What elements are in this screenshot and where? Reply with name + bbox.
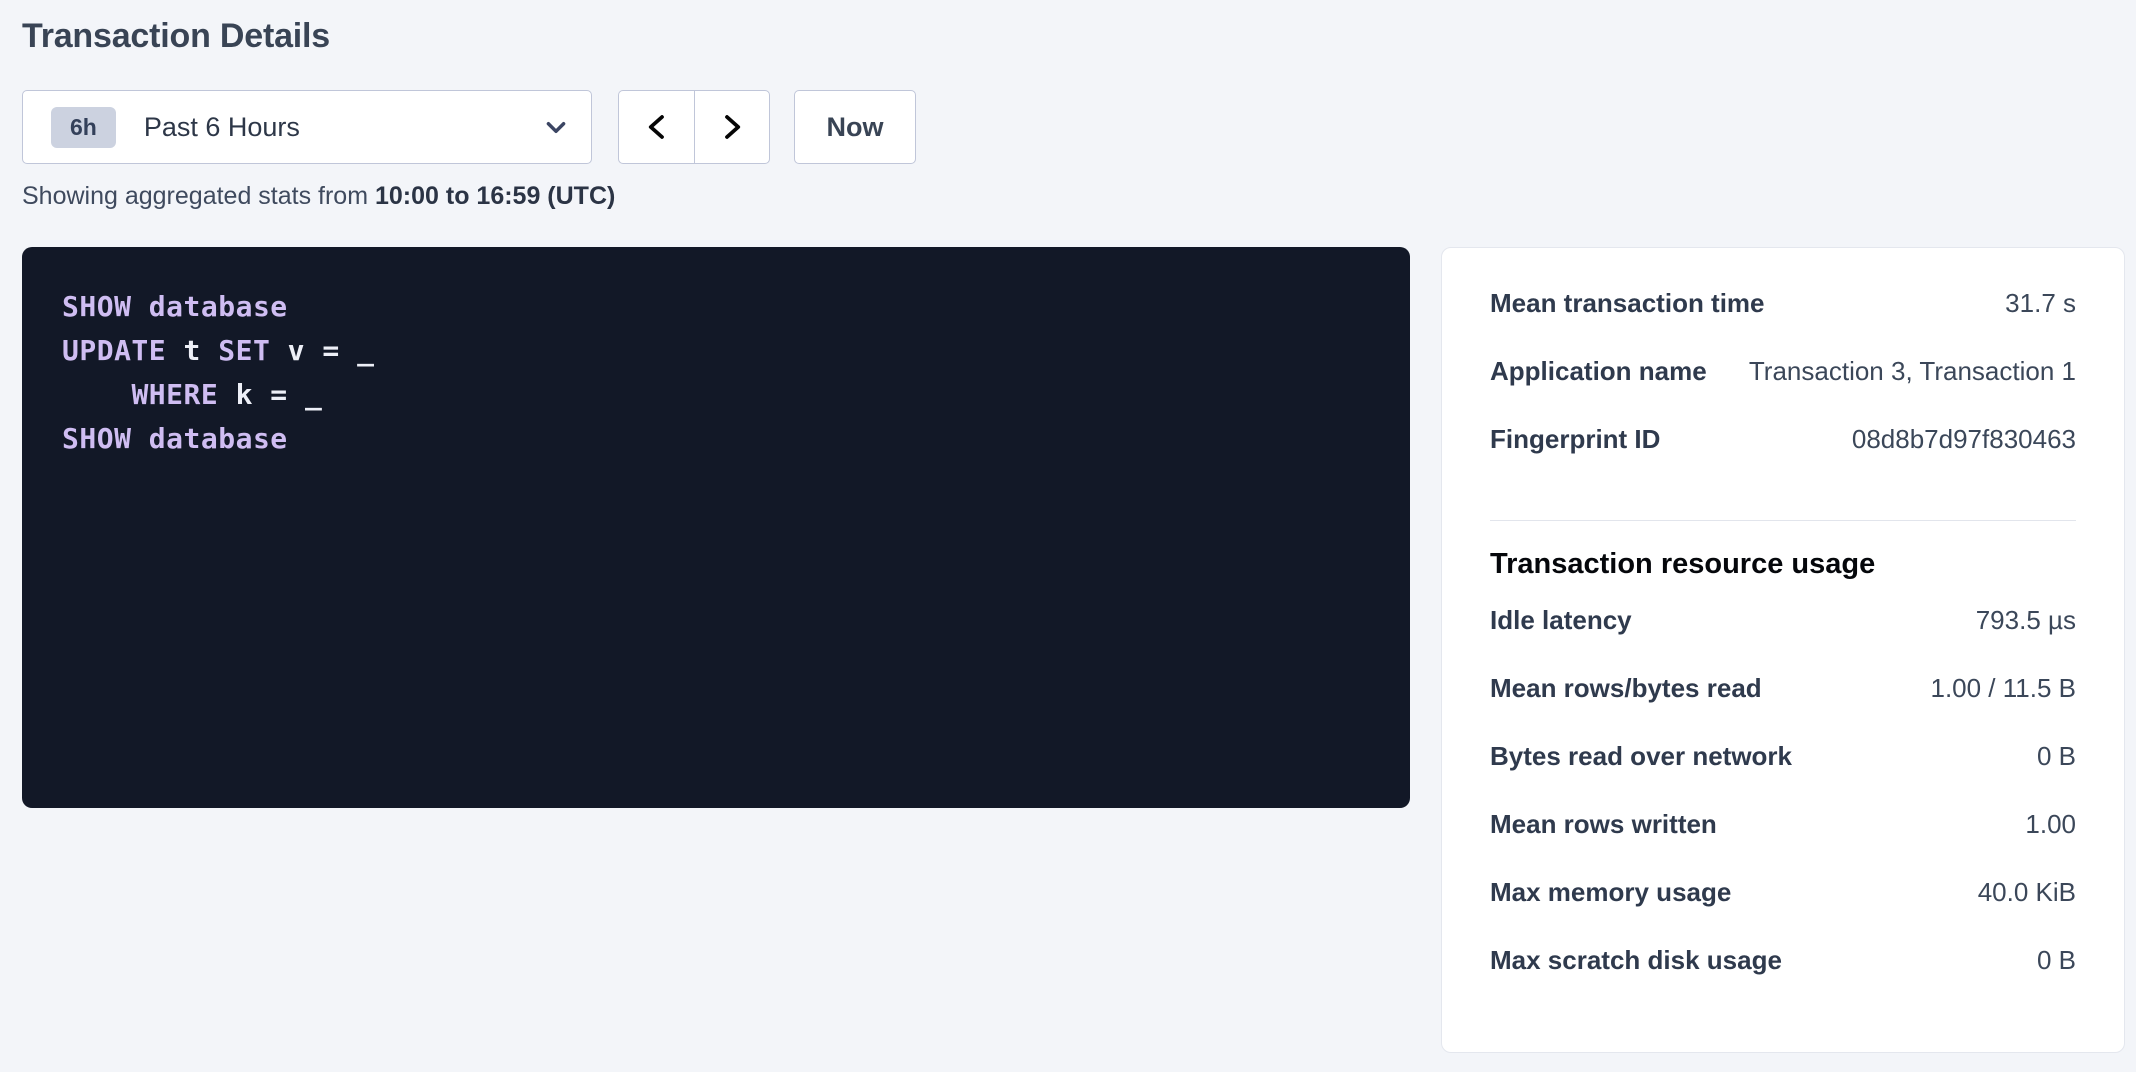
now-button[interactable]: Now <box>794 90 916 164</box>
sql-code-block[interactable]: SHOW database UPDATE t SET v = _ WHERE k… <box>22 247 1410 808</box>
stat-row: Mean transaction time31.7 s <box>1490 288 2076 356</box>
summary-stats-list: Mean transaction time31.7 sApplication n… <box>1490 288 2076 492</box>
stat-value: 0 B <box>2037 741 2076 772</box>
stat-label: Application name <box>1490 356 1707 387</box>
stat-value: 08d8b7d97f830463 <box>1852 424 2076 455</box>
time-range-toolbar: 6h Past 6 Hours <box>22 90 916 164</box>
range-note-value: 10:00 to 16:59 (UTC) <box>375 182 615 210</box>
code-token <box>62 378 131 411</box>
previous-range-button[interactable] <box>618 90 694 164</box>
code-token <box>218 378 235 411</box>
next-range-button[interactable] <box>694 90 770 164</box>
code-token: = _ <box>305 334 374 367</box>
code-token: database <box>149 290 288 323</box>
stat-row: Idle latency793.5 µs <box>1490 605 2076 673</box>
transaction-details-page: Transaction Details 6h Past 6 Hours <box>0 0 2136 1072</box>
stat-row: Max memory usage40.0 KiB <box>1490 877 2076 945</box>
range-note-prefix: Showing aggregated stats from <box>22 182 375 210</box>
code-token <box>166 334 183 367</box>
code-token: SHOW <box>62 422 131 455</box>
code-token <box>270 334 287 367</box>
stat-label: Mean transaction time <box>1490 288 1765 319</box>
stat-label: Max scratch disk usage <box>1490 945 1782 976</box>
time-range-badge: 6h <box>51 107 116 148</box>
code-token: k <box>236 378 253 411</box>
stat-value: Transaction 3, Transaction 1 <box>1749 356 2076 387</box>
code-token: v <box>288 334 305 367</box>
stat-label: Fingerprint ID <box>1490 424 1660 455</box>
code-token: SET <box>218 334 270 367</box>
stat-value: 1.00 <box>2025 809 2076 840</box>
code-token <box>131 290 148 323</box>
chevron-right-icon <box>717 112 747 142</box>
stat-label: Bytes read over network <box>1490 741 1792 772</box>
time-range-label: Past 6 Hours <box>144 112 531 143</box>
stat-row: Fingerprint ID08d8b7d97f830463 <box>1490 424 2076 492</box>
chevron-left-icon <box>642 112 672 142</box>
stat-value: 40.0 KiB <box>1978 877 2076 908</box>
time-range-select[interactable]: 6h Past 6 Hours <box>22 90 592 164</box>
stat-row: Mean rows written1.00 <box>1490 809 2076 877</box>
transaction-stats-card: Mean transaction time31.7 sApplication n… <box>1441 247 2125 1053</box>
code-token: database <box>149 422 288 455</box>
stats-divider <box>1490 520 2076 521</box>
code-token <box>131 422 148 455</box>
stat-row: Bytes read over network0 B <box>1490 741 2076 809</box>
chevron-down-icon <box>543 114 569 140</box>
stat-label: Max memory usage <box>1490 877 1731 908</box>
stat-value: 31.7 s <box>2005 288 2076 319</box>
code-token: SHOW <box>62 290 131 323</box>
time-nav-group <box>618 90 770 164</box>
code-token <box>201 334 218 367</box>
resource-stats-list: Idle latency793.5 µsMean rows/bytes read… <box>1490 605 2076 1013</box>
stat-value: 0 B <box>2037 945 2076 976</box>
code-token: WHERE <box>131 378 218 411</box>
stat-label: Idle latency <box>1490 605 1632 636</box>
stat-row: Application nameTransaction 3, Transacti… <box>1490 356 2076 424</box>
stat-row: Mean rows/bytes read1.00 / 11.5 B <box>1490 673 2076 741</box>
code-token: = _ <box>253 378 322 411</box>
stat-label: Mean rows/bytes read <box>1490 673 1762 704</box>
resource-usage-heading: Transaction resource usage <box>1490 545 2076 583</box>
sql-code-text: SHOW database UPDATE t SET v = _ WHERE k… <box>62 285 1370 461</box>
code-token: UPDATE <box>62 334 166 367</box>
stat-value: 1.00 / 11.5 B <box>1930 673 2076 704</box>
code-token: t <box>184 334 201 367</box>
page-title: Transaction Details <box>22 14 330 58</box>
stat-row: Max scratch disk usage0 B <box>1490 945 2076 1013</box>
stat-label: Mean rows written <box>1490 809 1717 840</box>
range-note: Showing aggregated stats from 10:00 to 1… <box>22 180 615 212</box>
stat-value: 793.5 µs <box>1976 605 2076 636</box>
